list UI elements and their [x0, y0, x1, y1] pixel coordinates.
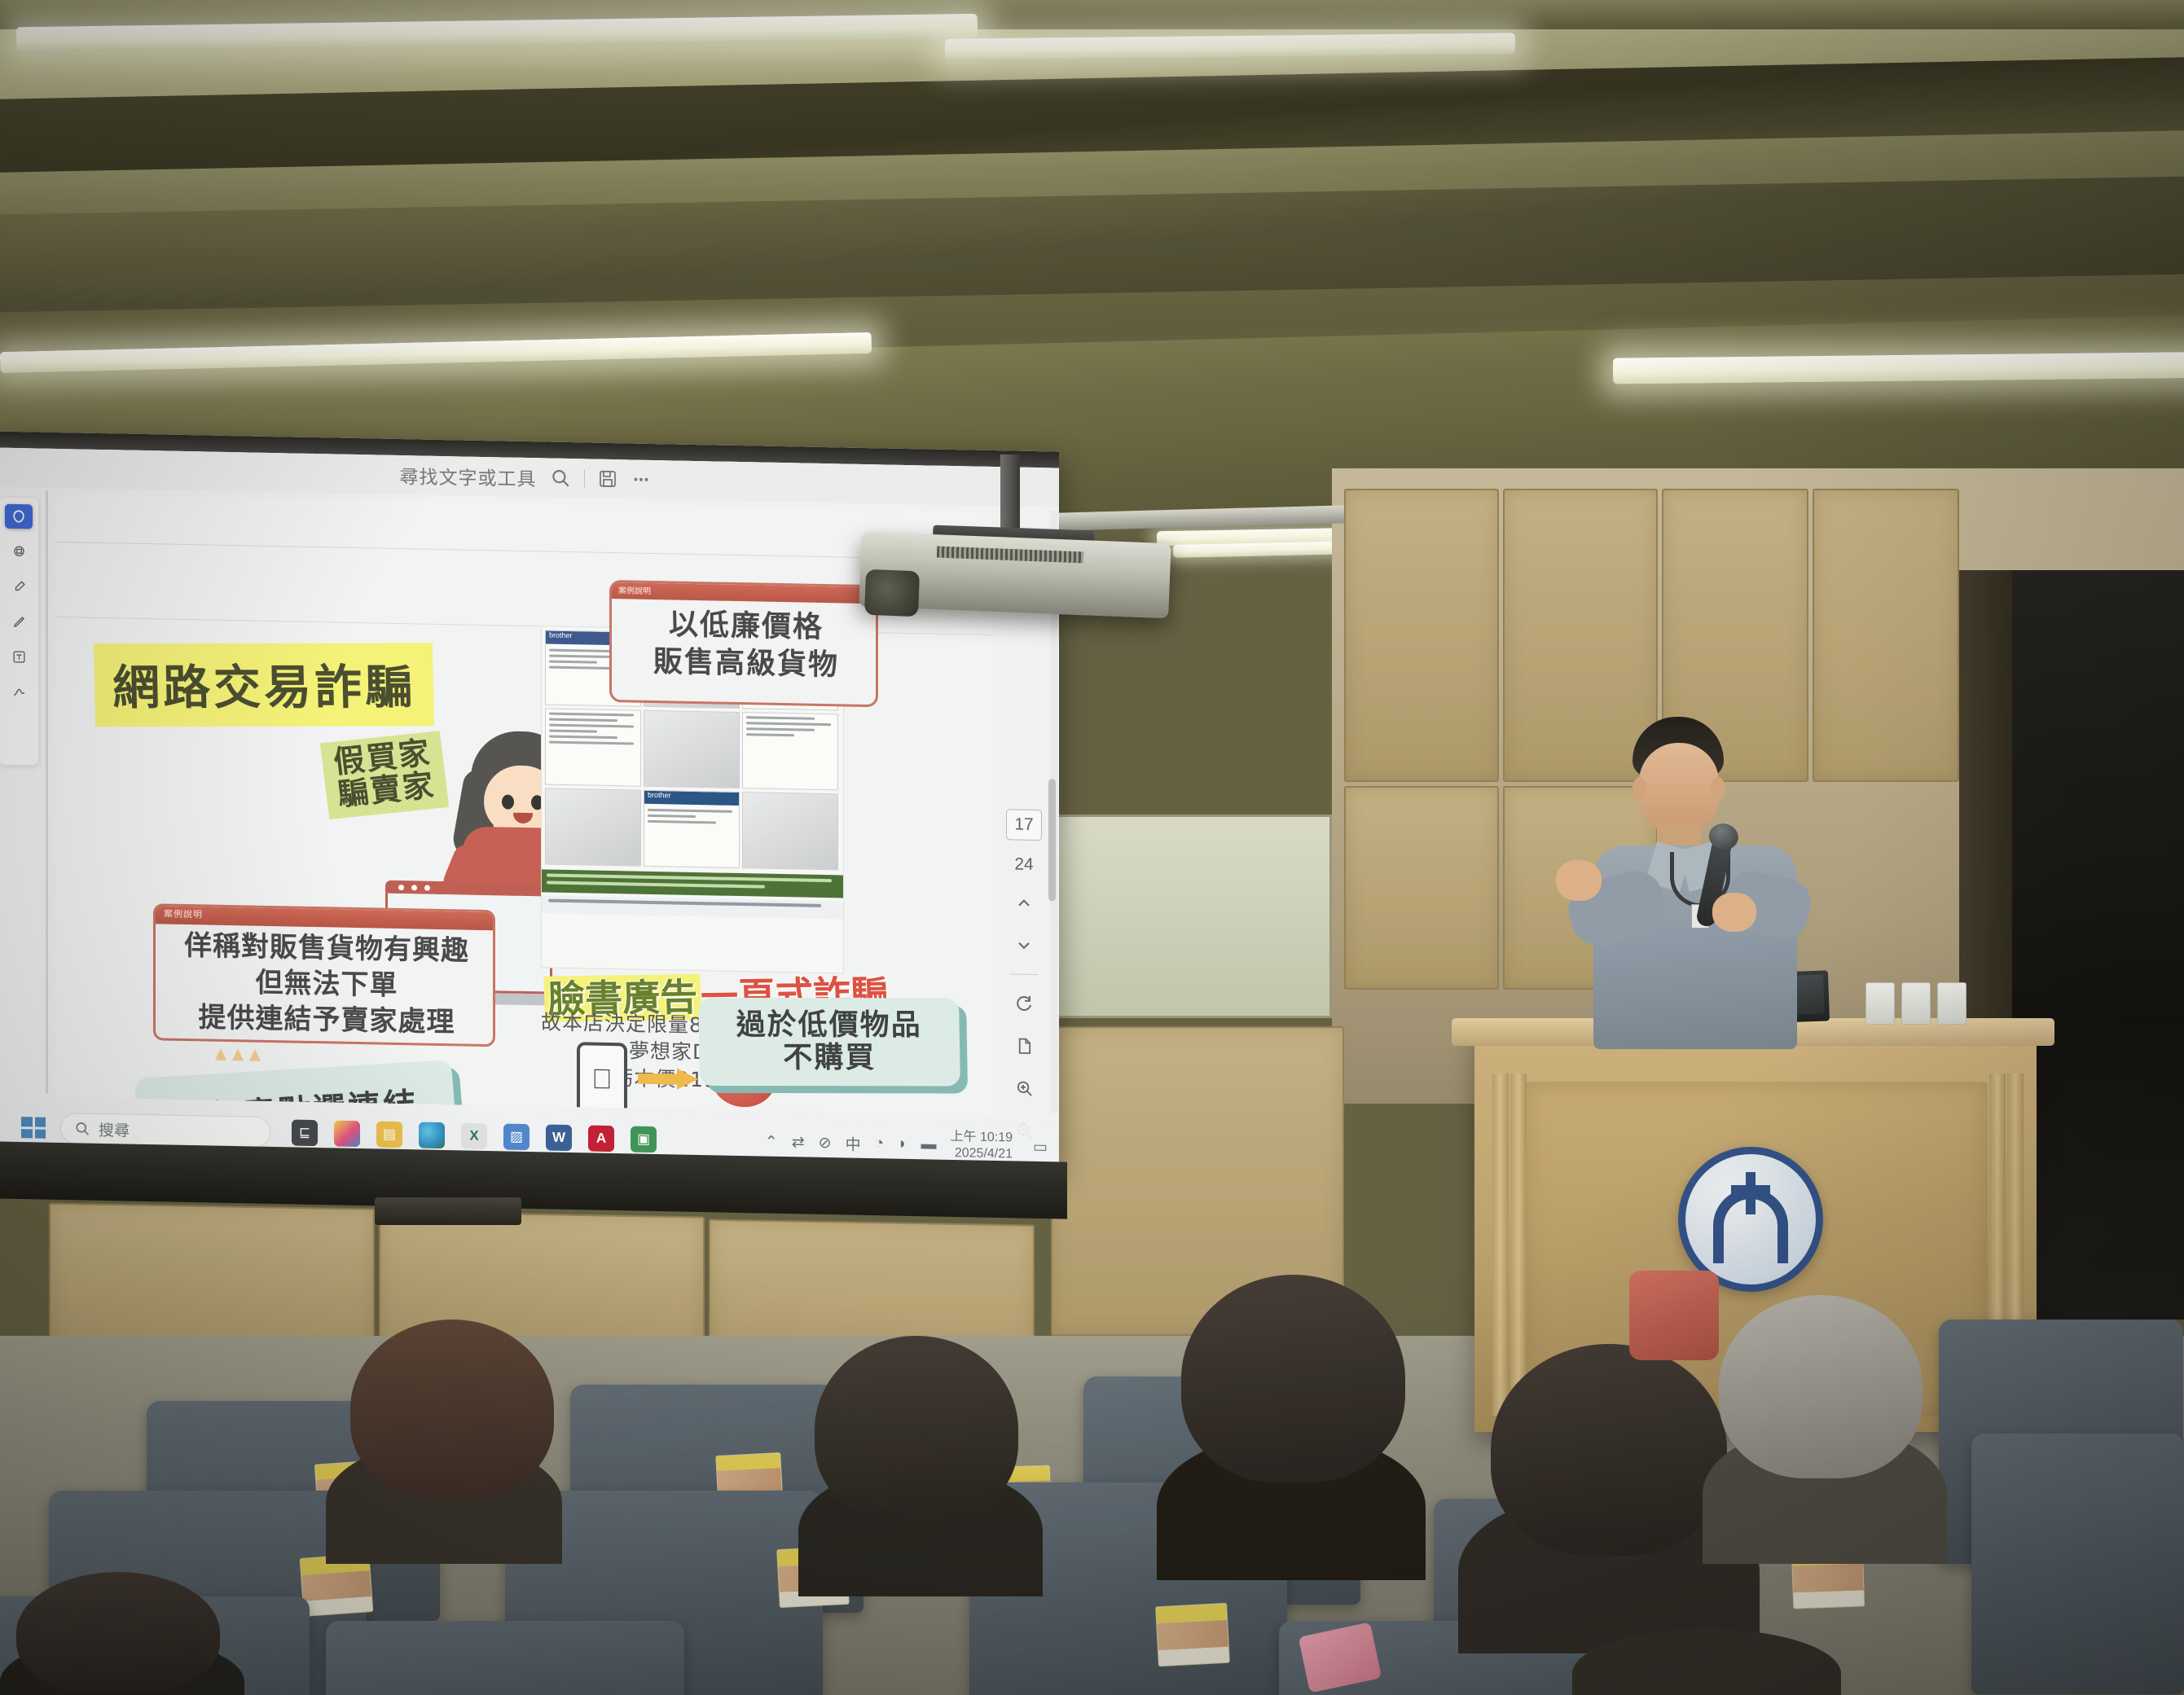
cabinet-door [1344, 489, 1499, 782]
search-icon[interactable] [550, 468, 571, 489]
callout-line: 佯稱對販售貨物有興趣 [156, 927, 495, 969]
draw-tool-button[interactable] [5, 609, 33, 635]
select-tool-button[interactable] [5, 504, 33, 529]
screen-roller-housing [375, 1197, 521, 1225]
right-advice-line1: 過於低價物品 [736, 1009, 922, 1043]
battery-icon[interactable]: ▬ [921, 1135, 937, 1153]
bag [1629, 1271, 1719, 1360]
taskbar-search-box[interactable]: 搜尋 [60, 1113, 270, 1148]
fake-buyer-tag: 假買家 騙賣家 [320, 731, 449, 819]
sparkle-decoration [215, 1048, 261, 1061]
pdf-page-nav: 17 24 [1002, 809, 1046, 1144]
arrow-right-icon [638, 1068, 698, 1090]
collage-footer-band [542, 895, 844, 919]
file-explorer-icon[interactable]: ▤ [376, 1121, 402, 1148]
highlight-tool-button[interactable] [5, 574, 33, 599]
show-hidden-icons-icon[interactable]: ⌃ [765, 1132, 778, 1151]
word-icon[interactable]: W [546, 1124, 572, 1151]
windows-logo-icon[interactable] [21, 1117, 46, 1139]
water-bottles [1865, 982, 1971, 1025]
ear [1711, 777, 1725, 800]
collage-green-banner [542, 869, 844, 898]
rail-divider [1009, 973, 1039, 975]
slide-title: 網路交易詐騙 [94, 643, 434, 727]
slide-title-text: 網路交易詐騙 [112, 660, 415, 716]
callout-header-label: 案例說明 [618, 586, 651, 596]
page-left-margin [46, 491, 48, 1094]
brand-band: brother [644, 791, 739, 806]
audience-head [1719, 1295, 1923, 1478]
window-dot [424, 885, 430, 891]
apple-logo-glyph:  [591, 1064, 613, 1096]
speaker-icon[interactable]: ◔ [875, 1135, 884, 1153]
window-dot [398, 885, 404, 890]
chevron-down-icon[interactable] [1009, 931, 1039, 959]
cabinet-door [1344, 786, 1499, 990]
search-icon [74, 1120, 90, 1136]
notification-bell-icon[interactable]: ▭ [1033, 1137, 1048, 1156]
toolbar-divider [584, 469, 585, 487]
callout-line: 提供連結予賣家處理 [156, 999, 495, 1042]
audience-head [815, 1336, 1018, 1523]
wall-whiteboard [1051, 815, 1332, 1018]
comment-tool-button[interactable] [5, 539, 33, 564]
cabinet-door [1813, 489, 1959, 782]
taskview-icon[interactable]: ⊑ [292, 1119, 318, 1146]
hand [1712, 893, 1756, 932]
collage-cell [545, 788, 641, 866]
fit-page-icon[interactable] [1009, 1031, 1039, 1060]
audience-head [16, 1572, 220, 1694]
callout-line: 販售高級貨物 [612, 643, 878, 685]
photos-icon[interactable]: ▨ [503, 1123, 530, 1150]
search-input[interactable]: 尋找文字或工具 [400, 461, 537, 491]
chair [326, 1621, 684, 1695]
ime-chinese-icon[interactable]: 中 [846, 1132, 861, 1154]
audience-head [350, 1320, 554, 1499]
line-app-icon[interactable]: ▣ [631, 1126, 657, 1153]
no-sound-icon[interactable]: ⊘ [819, 1133, 832, 1152]
network-icon[interactable]: ⇄ [792, 1133, 805, 1152]
audience-head [1181, 1275, 1405, 1482]
head [1639, 743, 1719, 834]
scrollbar-thumb[interactable] [1048, 779, 1056, 901]
copilot-icon[interactable] [334, 1120, 360, 1147]
wifi-icon[interactable]: ◗ [898, 1135, 907, 1153]
ellipsis-icon[interactable] [631, 468, 652, 490]
collage-cell [742, 712, 838, 790]
ceiling-beam [0, 57, 2184, 172]
total-pages-label: 24 [1014, 855, 1033, 875]
speaker-person [1572, 717, 1817, 1043]
ear [1633, 777, 1647, 800]
excel-icon[interactable]: X [461, 1122, 487, 1149]
signature-tool-button[interactable] [5, 679, 33, 705]
hand [1556, 860, 1602, 901]
clock-time: 上午 10:19 [951, 1129, 1013, 1146]
current-page-input[interactable]: 17 [1006, 809, 1042, 841]
zoom-in-icon[interactable] [1009, 1074, 1039, 1102]
slide-rule-line [55, 542, 992, 560]
smartphone-icon:  [577, 1042, 627, 1115]
taskbar-clock[interactable]: 上午 10:19 2025/4/21 [951, 1129, 1013, 1162]
podium-pilaster [1492, 1074, 1509, 1416]
pdf-page-content: 網路交易詐騙 假買家 騙賣家 [55, 494, 992, 1115]
ceiling-beam [0, 177, 2184, 313]
projector-lens [864, 569, 920, 617]
pdf-tool-rail [0, 497, 39, 766]
chair [1971, 1434, 2184, 1694]
callout-header-bar: 案例說明 [612, 582, 878, 604]
lecture-hall-photo: 尋找文字或工具 [0, 0, 2184, 1695]
fake-buyer-tag-line2: 騙賣家 [336, 769, 437, 811]
collage-cell: brother [644, 790, 740, 868]
pdf-reader-icon[interactable]: A [588, 1125, 614, 1152]
edge-browser-icon[interactable] [419, 1122, 445, 1148]
collage-cell [545, 708, 641, 786]
right-advice-box: 過於低價物品 不購買 [698, 998, 960, 1087]
callout-header-bar: 案例說明 [156, 906, 495, 930]
audience-head [1491, 1344, 1727, 1556]
left-advice-box: 不任意點選連結 [134, 1060, 457, 1115]
chair-seat-card [1155, 1603, 1230, 1667]
podium-pilaster [1510, 1074, 1527, 1416]
taskbar-search-placeholder: 搜尋 [99, 1118, 130, 1140]
text-tool-button[interactable] [5, 644, 33, 670]
rotate-icon[interactable] [1009, 989, 1039, 1017]
collage-cell [644, 710, 740, 788]
chevron-up-icon[interactable] [1009, 889, 1039, 917]
right-advice-line2: 不購買 [783, 1042, 877, 1075]
callout-line: 以低廉價格 [612, 605, 878, 648]
collage-cell [742, 792, 838, 870]
doorway [2012, 570, 2184, 1320]
right-callout-box: 案例說明 以低廉價格 販售高級貨物 [609, 580, 878, 707]
callout-header-label: 案例說明 [164, 909, 203, 920]
eye [502, 794, 514, 809]
save-icon[interactable] [598, 469, 617, 489]
window-dot [411, 885, 417, 890]
left-callout-box: 案例說明 佯稱對販售貨物有興趣 但無法下單 提供連結予賣家處理 [153, 903, 495, 1047]
